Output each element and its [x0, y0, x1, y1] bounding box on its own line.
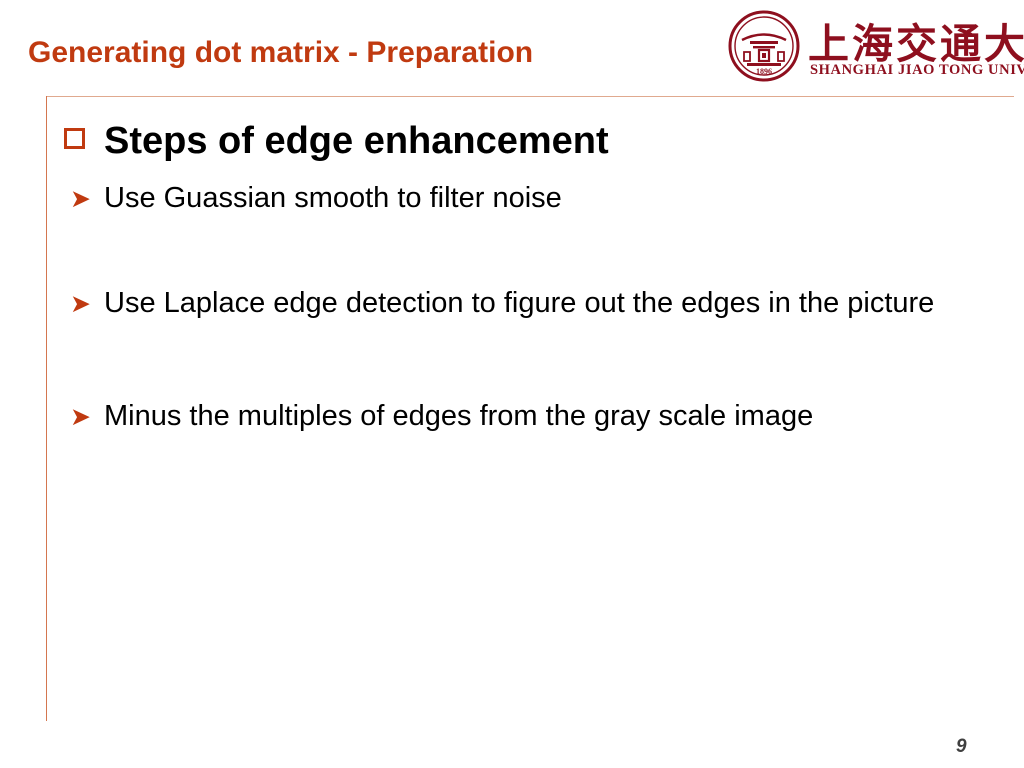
sjtu-seal-icon: 1896: [728, 10, 800, 82]
content-heading: Steps of edge enhancement: [62, 118, 992, 164]
left-accent-rule: [46, 96, 47, 721]
list-item-text: Minus the multiples of edges from the gr…: [104, 400, 813, 432]
list-item: ➤ Use Laplace edge detection to figure o…: [62, 287, 992, 320]
hollow-square-bullet-icon: [64, 128, 85, 149]
arrow-bullet-icon: ➤: [70, 185, 91, 213]
logo-chinese-name: 上海交通大学: [808, 10, 1024, 70]
list-item: ➤ Use Guassian smooth to filter noise: [62, 182, 992, 215]
slide-body: Steps of edge enhancement ➤ Use Guassian…: [62, 118, 992, 475]
page-title: Generating dot matrix - Preparation: [28, 36, 788, 70]
header-divider: [46, 96, 1014, 97]
list-item-text: Use Laplace edge detection to figure out…: [104, 287, 934, 319]
page-number: 9: [956, 736, 967, 758]
logo-english-name: SHANGHAI JIAO TONG UNIVERSITY: [810, 62, 1024, 79]
slide: Generating dot matrix - Preparation 1896…: [0, 0, 1024, 768]
content-heading-text: Steps of edge enhancement: [104, 120, 609, 162]
university-logo: 1896 上海交通大学 SHANGHAI JIAO TONG UNIVERSIT…: [728, 8, 1014, 92]
svg-text:1896: 1896: [756, 67, 772, 76]
arrow-bullet-icon: ➤: [70, 290, 91, 318]
arrow-bullet-icon: ➤: [70, 403, 91, 431]
list-item: ➤ Minus the multiples of edges from the …: [62, 400, 992, 433]
list-item-text: Use Guassian smooth to filter noise: [104, 182, 562, 214]
